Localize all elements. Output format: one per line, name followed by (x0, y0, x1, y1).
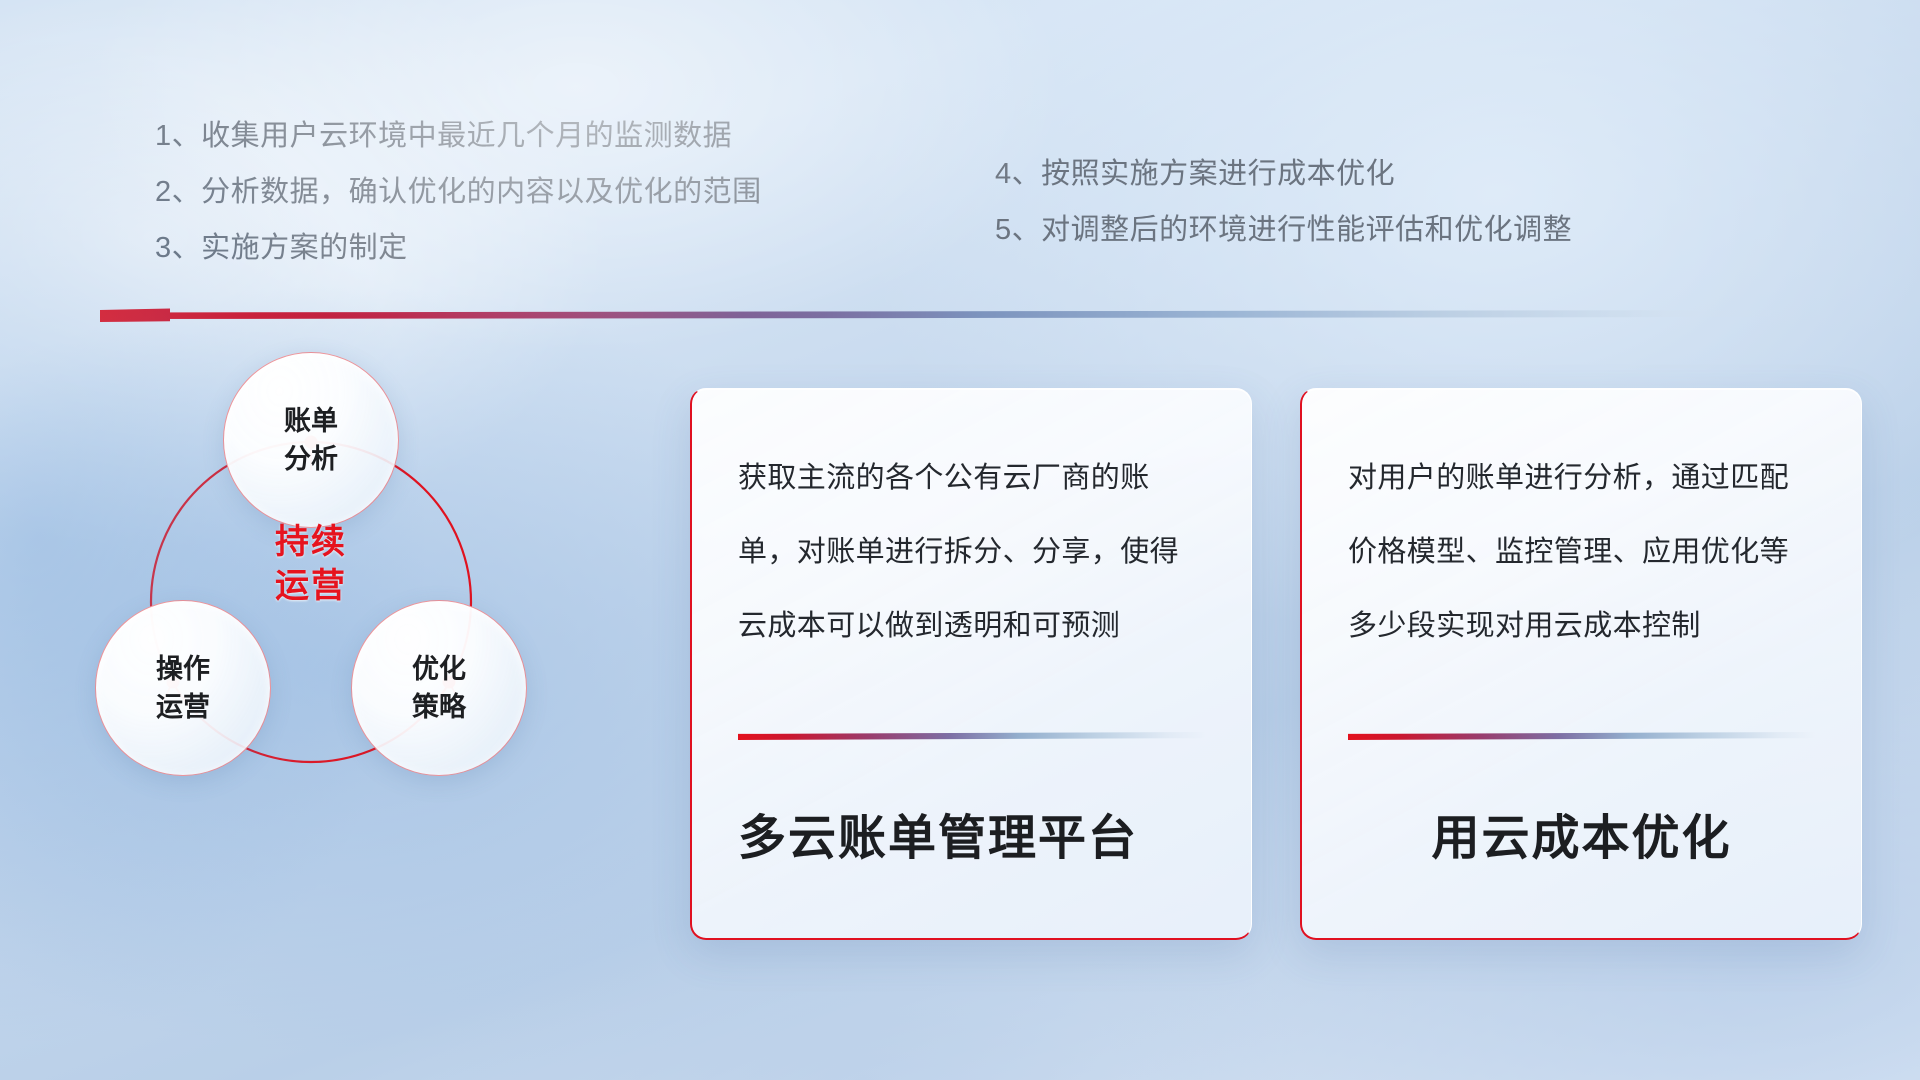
cycle-node-optimization-strategy[interactable]: 优化 策略 (351, 600, 527, 776)
cycle-node-optimization-strategy-line1: 优化 (412, 650, 466, 688)
feature-card-1-title: 多云账单管理平台 (738, 740, 1205, 938)
step-item-5: 5、对调整后的环境进行性能评估和优化调整 (995, 202, 1795, 258)
cycle-diagram: 账单 分析 操作 运营 优化 策略 持续 运营 (95, 352, 615, 952)
cycle-node-bill-analysis[interactable]: 账单 分析 (223, 352, 399, 528)
section-divider (100, 306, 1790, 324)
cycle-center-label-line2: 运营 (231, 564, 391, 608)
cycle-node-operations-line1: 操作 (156, 650, 210, 688)
cycle-center-label-line1: 持续 (231, 520, 391, 564)
feature-card-2-description: 对用户的账单进行分析，通过匹配价格模型、监控管理、应用优化等多少段实现对用云成本… (1348, 441, 1815, 663)
cycle-node-operations[interactable]: 操作 运营 (95, 600, 271, 776)
step-item-4: 4、按照实施方案进行成本优化 (995, 146, 1795, 202)
feature-card-1-description: 获取主流的各个公有云厂商的账单，对账单进行拆分、分享，使得云成本可以做到透明和可… (738, 441, 1205, 663)
cycle-node-bill-analysis-line2: 分析 (284, 440, 338, 478)
step-item-2: 2、分析数据，确认优化的内容以及优化的范围 (155, 164, 995, 220)
divider-gradient-bar (100, 310, 1790, 319)
step-item-3: 3、实施方案的制定 (155, 220, 995, 276)
steps-column-right: 4、按照实施方案进行成本优化 5、对调整后的环境进行性能评估和优化调整 (995, 108, 1795, 276)
cycle-center-label: 持续 运营 (231, 520, 391, 608)
steps-column-left: 1、收集用户云环境中最近几个月的监测数据 2、分析数据，确认优化的内容以及优化的… (155, 108, 995, 276)
feature-card-1-rule (738, 732, 1205, 740)
cycle-node-optimization-strategy-line2: 策略 (412, 688, 466, 726)
cycle-node-operations-line2: 运营 (156, 688, 210, 726)
feature-card-multicloud-billing[interactable]: 获取主流的各个公有云厂商的账单，对账单进行拆分、分享，使得云成本可以做到透明和可… (690, 388, 1252, 940)
steps-list: 1、收集用户云环境中最近几个月的监测数据 2、分析数据，确认优化的内容以及优化的… (155, 108, 1795, 276)
feature-card-2-rule (1348, 732, 1815, 740)
feature-card-2-title: 用云成本优化 (1348, 740, 1815, 938)
feature-card-cloud-cost-optimization[interactable]: 对用户的账单进行分析，通过匹配价格模型、监控管理、应用优化等多少段实现对用云成本… (1300, 388, 1862, 940)
divider-red-tip (100, 307, 170, 322)
cycle-node-bill-analysis-line1: 账单 (284, 402, 338, 440)
slide-root: 1、收集用户云环境中最近几个月的监测数据 2、分析数据，确认优化的内容以及优化的… (0, 0, 1920, 1080)
step-item-1: 1、收集用户云环境中最近几个月的监测数据 (155, 108, 995, 164)
